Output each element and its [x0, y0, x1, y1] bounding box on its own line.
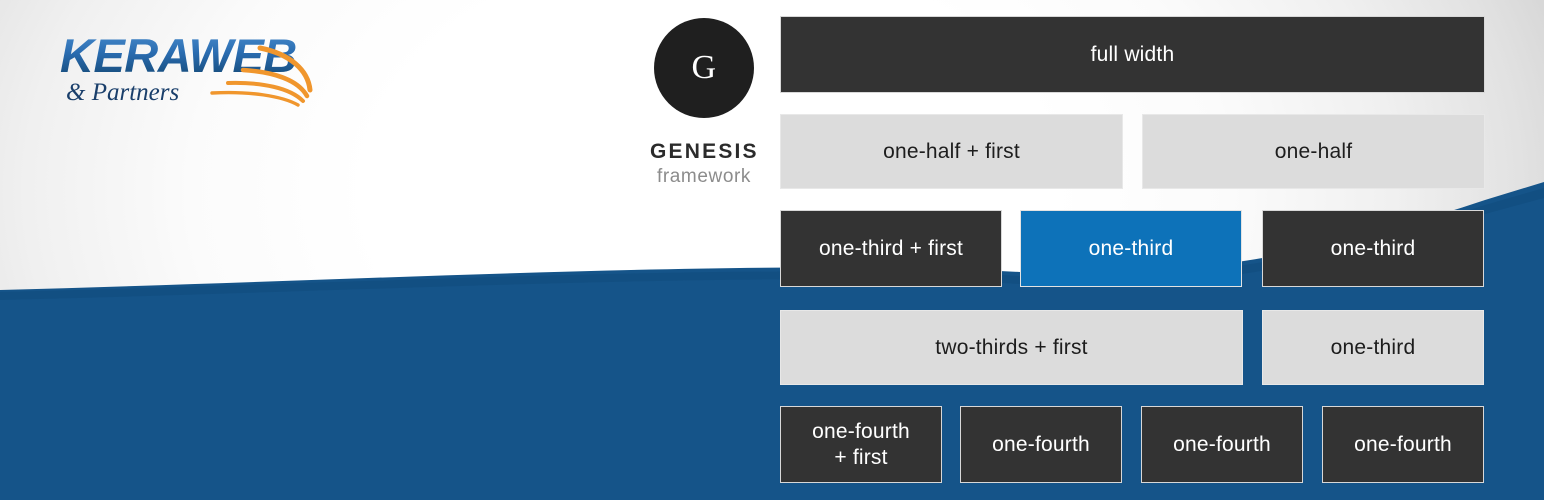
layout-block-two-thirds-first[interactable]: two-thirds + first [780, 310, 1243, 385]
layout-block-label: one-third [1089, 236, 1174, 262]
layout-block-label: one-half + first [883, 139, 1020, 165]
layout-block-one-fourth[interactable]: one-fourth [1322, 406, 1484, 483]
layout-block-label: full width [1091, 42, 1175, 68]
layout-block-one-third-first[interactable]: one-third + first [780, 210, 1002, 287]
layout-block-one-half[interactable]: one-half [1142, 114, 1485, 189]
genesis-name: GENESIS [650, 140, 758, 164]
keraweb-logo-graphic: KERAWEB & Partners [60, 28, 320, 110]
layout-block-label: one-fourth [1173, 432, 1271, 458]
genesis-circle-icon: G [654, 18, 754, 118]
layout-block-label: two-thirds + first [935, 335, 1087, 361]
genesis-subtitle: framework [650, 166, 758, 188]
keraweb-logo: KERAWEB & Partners [60, 28, 320, 110]
layout-block-full-width[interactable]: full width [780, 16, 1485, 93]
layout-block-one-fourth[interactable]: one-fourth [960, 406, 1122, 483]
layout-block-one-third[interactable]: one-third [1020, 210, 1242, 287]
layout-block-label: one-half [1275, 139, 1353, 165]
layout-block-one-fourth[interactable]: one-fourth [1141, 406, 1303, 483]
layout-block-one-half-first[interactable]: one-half + first [780, 114, 1123, 189]
layout-block-label: one-third + first [819, 236, 963, 262]
layout-block-label: one-third [1331, 335, 1416, 361]
layout-block-label: one-third [1331, 236, 1416, 262]
layout-block-label: one-fourth [1354, 432, 1452, 458]
keraweb-tagline: & Partners [66, 79, 179, 106]
layout-block-label: one-fourth + first [812, 419, 910, 470]
layout-block-one-third[interactable]: one-third [1262, 210, 1484, 287]
genesis-framework-logo: G GENESIS framework [650, 18, 758, 188]
layout-block-one-third[interactable]: one-third [1262, 310, 1484, 385]
layout-block-label: one-fourth [992, 432, 1090, 458]
slide-canvas: KERAWEB & Partners G GENESIS framework f… [0, 0, 1544, 500]
layout-block-one-fourth-first[interactable]: one-fourth + first [780, 406, 942, 483]
